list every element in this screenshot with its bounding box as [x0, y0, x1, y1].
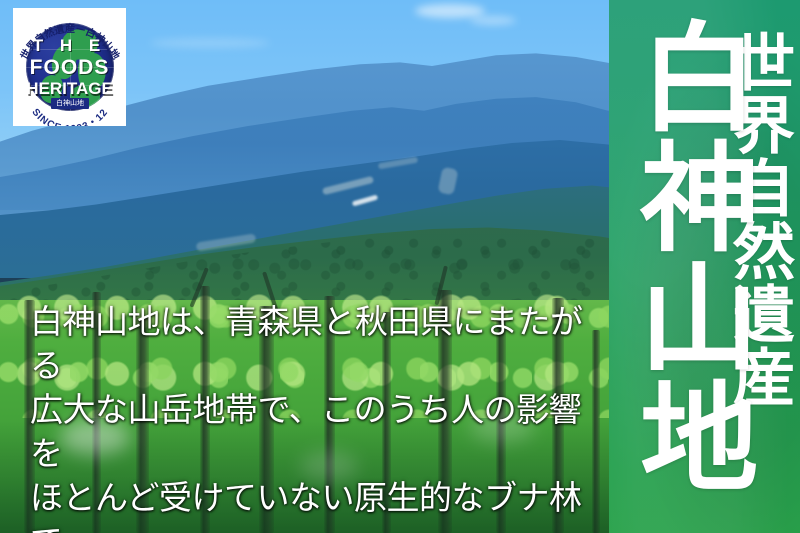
- logo-line-foods: FOODS: [13, 56, 126, 80]
- vertical-main-title: 白神山地: [627, 16, 750, 496]
- cloud: [470, 16, 516, 25]
- cloud: [415, 4, 485, 18]
- logo-line-the: T H E: [13, 36, 126, 56]
- description-caption: 白神山地は、青森県と秋田県にまたがる 広大な山岳地帯で、このうち人の影響を ほと…: [30, 300, 590, 533]
- logo-arc-bottom-text: SINCE 1993・12: [29, 107, 110, 126]
- logo-inner: 世界自然遺産ー白神山地 SINCE 1993・12 T H E FOODS HE…: [13, 8, 126, 126]
- logo-badge: 世界自然遺産ー白神山地 SINCE 1993・12 T H E FOODS HE…: [13, 8, 126, 126]
- logo-arc-bottom-textpath: SINCE 1993・12: [29, 107, 110, 126]
- banner-image: 白神山地は、青森県と秋田県にまたがる 広大な山岳地帯で、このうち人の影響を ほと…: [0, 0, 800, 533]
- logo-chip-label: 白神山地: [51, 98, 89, 109]
- cloud: [150, 38, 270, 48]
- green-title-panel: 世界自然遺産 白神山地: [609, 0, 800, 533]
- logo-line-heritage: HERITAGE: [13, 79, 126, 99]
